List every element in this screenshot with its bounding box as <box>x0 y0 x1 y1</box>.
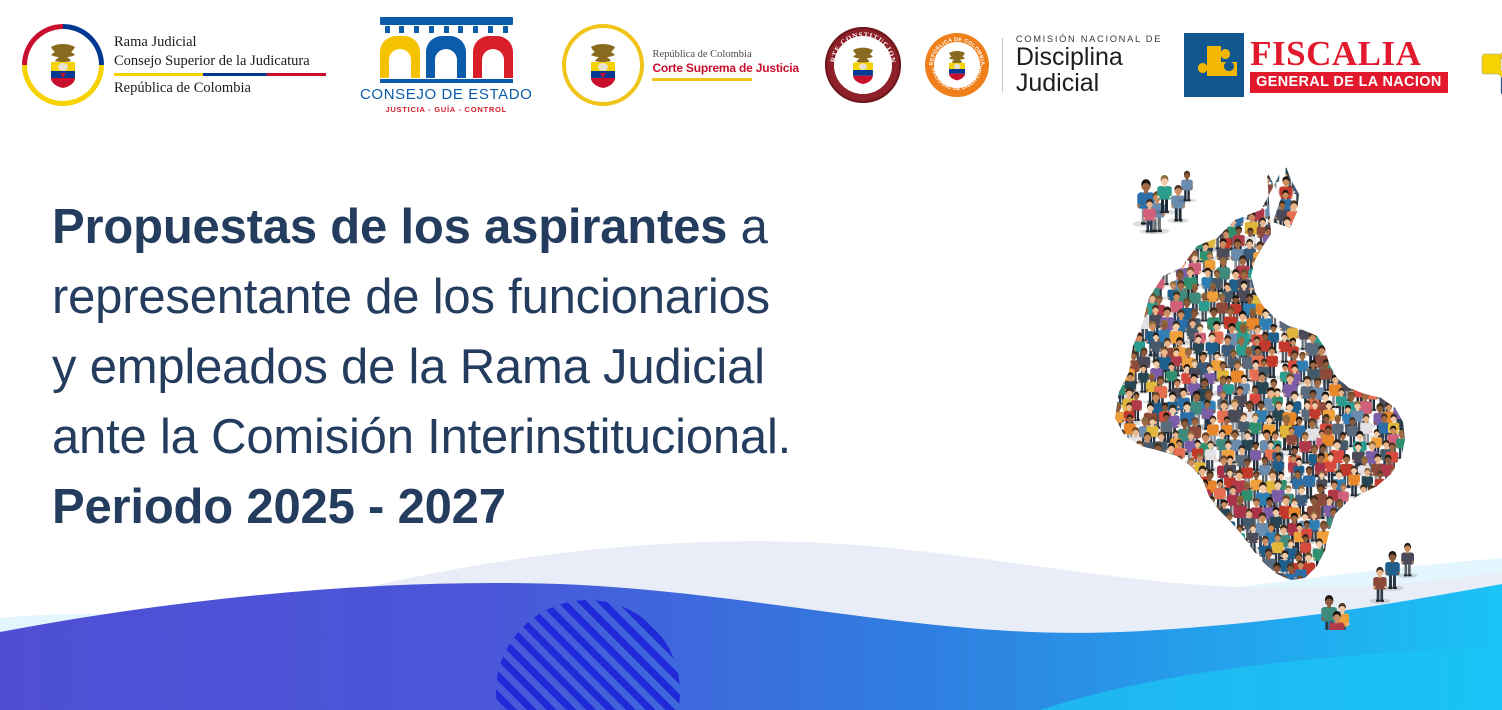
corte-suprema-de-justicia-logo: República de Colombia Corte Suprema de J… <box>562 24 798 106</box>
headline-line-5: Periodo 2025 - 2027 <box>52 472 791 542</box>
shield-glyph-icon <box>585 42 621 88</box>
representante-funcionarios-empleados-judiciales-logo: REPRESENTANTE DE FUNCIONARIOS Y EMPLEADO… <box>1474 27 1502 103</box>
headline-line-4: ante la Comisión Interinstitucional. <box>52 402 791 472</box>
fiscalia-line2: GENERAL DE LA NACION <box>1250 72 1448 93</box>
headline-line-3: y empleados de la Rama Judicial <box>52 332 791 402</box>
consejo-de-estado-logo: CONSEJO DE ESTADO JUSTICIA - GUÍA - CONT… <box>360 17 532 114</box>
colombia-map-crowd-illustration <box>1085 150 1485 630</box>
rama-judicial-line3: República de Colombia <box>114 80 326 97</box>
puzzle-glyph <box>1184 33 1244 97</box>
seal-arc-text: REPÚBLICA DE COLOMBIA COMISIÓN NACIONAL … <box>925 33 989 97</box>
headline-period: Periodo 2025 - 2027 <box>52 480 506 534</box>
institutional-logo-bar: Rama Judicial Consejo Superior de la Jud… <box>0 0 1502 130</box>
corte-constitucional-logo: CORTE CONSTITUCIONAL REPÚBLICA DE COLOMB… <box>825 27 901 103</box>
headline-line-1-bold: Propuestas de los aspirantes <box>52 200 727 254</box>
rama-judicial-text: Rama Judicial Consejo Superior de la Jud… <box>114 33 326 97</box>
consejo-de-estado-title: CONSEJO DE ESTADO <box>360 86 532 103</box>
svg-text:REPÚBLICA DE COLOMBIA: REPÚBLICA DE COLOMBIA <box>929 37 985 66</box>
fiscalia-text: FISCALIA GENERAL DE LA NACION <box>1250 37 1448 94</box>
court-seal-icon: CORTE CONSTITUCIONAL REPÚBLICA DE COLOMB… <box>825 27 901 103</box>
rama-judicial-logo: Rama Judicial Consejo Superior de la Jud… <box>22 24 326 106</box>
fiscalia-general-de-la-nacion-logo: FISCALIA GENERAL DE LA NACION <box>1184 33 1448 97</box>
headline-line-1-rest: a <box>727 200 767 254</box>
rama-judicial-line2: Consejo Superior de la Judicatura <box>114 52 326 71</box>
colombia-coat-of-arms-icon <box>562 24 644 106</box>
consejo-de-estado-motto: JUSTICIA - GUÍA - CONTROL <box>385 105 507 114</box>
gold-rule <box>652 78 752 81</box>
tricolor-rule <box>114 73 326 76</box>
disciplina-judicial-line2: Disciplina <box>1016 44 1162 70</box>
orange-seal-icon: REPÚBLICA DE COLOMBIA COMISIÓN NACIONAL … <box>925 33 989 97</box>
corte-suprema-line1: República de Colombia <box>652 49 798 60</box>
headline-line-1: Propuestas de los aspirantes a <box>52 192 791 262</box>
comision-nacional-disciplina-judicial-logo: REPÚBLICA DE COLOMBIA COMISIÓN NACIONAL … <box>925 33 1162 97</box>
puzzle-piece-icon <box>1184 33 1244 97</box>
neoclassical-building-icon <box>380 17 513 83</box>
colombia-coat-of-arms-icon <box>22 24 104 106</box>
svg-text:CORTE CONSTITUCIONAL: CORTE CONSTITUCIONAL <box>825 27 897 64</box>
corte-suprema-line2: Corte Suprema de Justicia <box>652 61 798 75</box>
seal-arc-text: CORTE CONSTITUCIONAL REPÚBLICA DE COLOMB… <box>825 27 901 103</box>
shield-glyph-icon <box>45 42 81 88</box>
headline-line-2: representante de los funcionarios <box>52 262 791 332</box>
disciplina-judicial-line3: Judicial <box>1016 70 1162 96</box>
four-hands-glyph <box>1474 27 1502 103</box>
four-hands-icon <box>1474 27 1502 103</box>
fiscalia-line1: FISCALIA <box>1250 37 1448 71</box>
vertical-divider <box>1002 38 1003 92</box>
rama-judicial-line1: Rama Judicial <box>114 33 326 52</box>
banner-canvas: Rama Judicial Consejo Superior de la Jud… <box>0 0 1502 710</box>
corte-suprema-text: República de Colombia Corte Suprema de J… <box>652 49 798 81</box>
disciplina-judicial-text: COMISIÓN NACIONAL DE Disciplina Judicial <box>1016 34 1162 96</box>
banner-headline: Propuestas de los aspirantes a represent… <box>52 192 791 542</box>
